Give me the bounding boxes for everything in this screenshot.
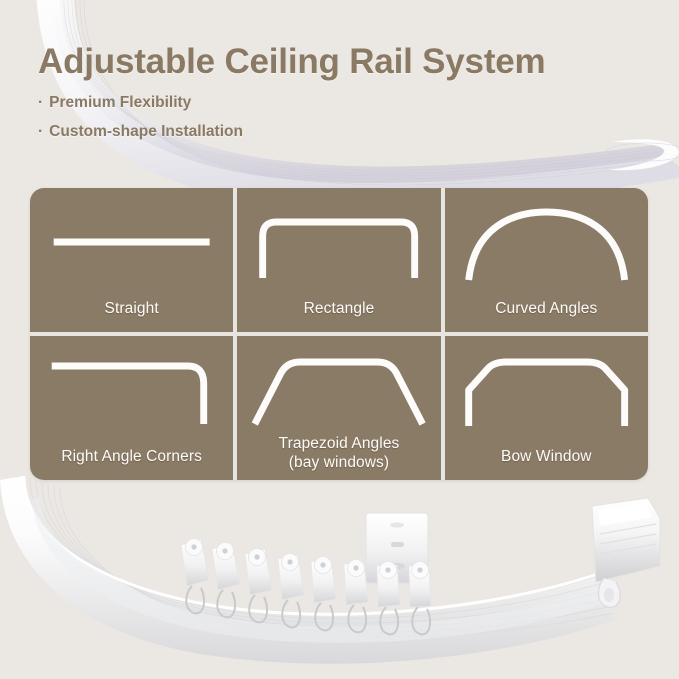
feature-bullet: ·Custom-shape Installation <box>38 124 638 140</box>
shape-cell-bow-window: Bow Window <box>445 336 648 480</box>
shape-label-secondary: (bay windows) <box>237 454 440 472</box>
bow-window-rail-icon <box>445 340 648 436</box>
shape-caption: Right Angle Corners <box>30 448 233 466</box>
roller-carriers-with-hooks <box>181 539 431 635</box>
bullet-marker-icon: · <box>38 95 43 111</box>
shape-caption: Bow Window <box>445 448 648 466</box>
shape-label: Rectangle <box>304 300 375 317</box>
shape-caption: Curved Angles <box>445 300 648 318</box>
shape-caption: Trapezoid Angles (bay windows) <box>237 435 440 472</box>
l-shape-rail-icon <box>30 340 233 436</box>
shape-caption: Straight <box>30 300 233 318</box>
shape-cell-rectangle: Rectangle <box>237 188 440 332</box>
feature-bullet: ·Premium Flexibility <box>38 95 638 111</box>
feature-bullet-text: Premium Flexibility <box>49 94 191 111</box>
infographic-canvas: Adjustable Ceiling Rail System ·Premium … <box>0 0 679 679</box>
roller-carrier <box>212 543 240 618</box>
product-photo <box>0 470 679 679</box>
shape-label: Curved Angles <box>495 300 597 317</box>
feature-bullet-text: Custom-shape Installation <box>49 123 243 140</box>
shape-cell-curved-angles: Curved Angles <box>445 188 648 332</box>
roller-carrier <box>278 554 304 628</box>
shape-label: Trapezoid Angles <box>237 435 440 453</box>
shape-caption: Rectangle <box>237 300 440 318</box>
rectangle-rail-icon <box>237 192 440 288</box>
roller-carrier <box>377 562 400 635</box>
roller-carrier <box>344 560 368 633</box>
shape-cell-right-angle-corners: Right Angle Corners <box>30 336 233 480</box>
shape-cell-trapezoid-angles: Trapezoid Angles (bay windows) <box>237 336 440 480</box>
shape-label: Bow Window <box>501 448 592 465</box>
end-cap-with-hook <box>592 498 660 607</box>
trapezoid-rail-icon <box>237 340 440 436</box>
page-title: Adjustable Ceiling Rail System <box>38 44 638 81</box>
feature-bullet-list: ·Premium Flexibility ·Custom-shape Insta… <box>38 95 638 140</box>
header-block: Adjustable Ceiling Rail System ·Premium … <box>38 44 638 154</box>
shape-cell-straight: Straight <box>30 188 233 332</box>
flexible-rail <box>0 476 614 664</box>
straight-rail-icon <box>30 192 233 288</box>
ceiling-mount-bracket <box>366 513 428 583</box>
roller-carrier <box>181 539 209 614</box>
shape-label: Straight <box>105 300 159 317</box>
roller-carrier <box>311 557 336 631</box>
shape-options-grid: Straight Rectangle Curved Angles <box>30 188 648 480</box>
roller-carrier <box>245 549 272 623</box>
shape-label: Right Angle Corners <box>61 448 202 465</box>
roller-carrier <box>409 562 431 635</box>
curved-arc-rail-icon <box>445 192 648 288</box>
bullet-marker-icon: · <box>38 124 43 140</box>
